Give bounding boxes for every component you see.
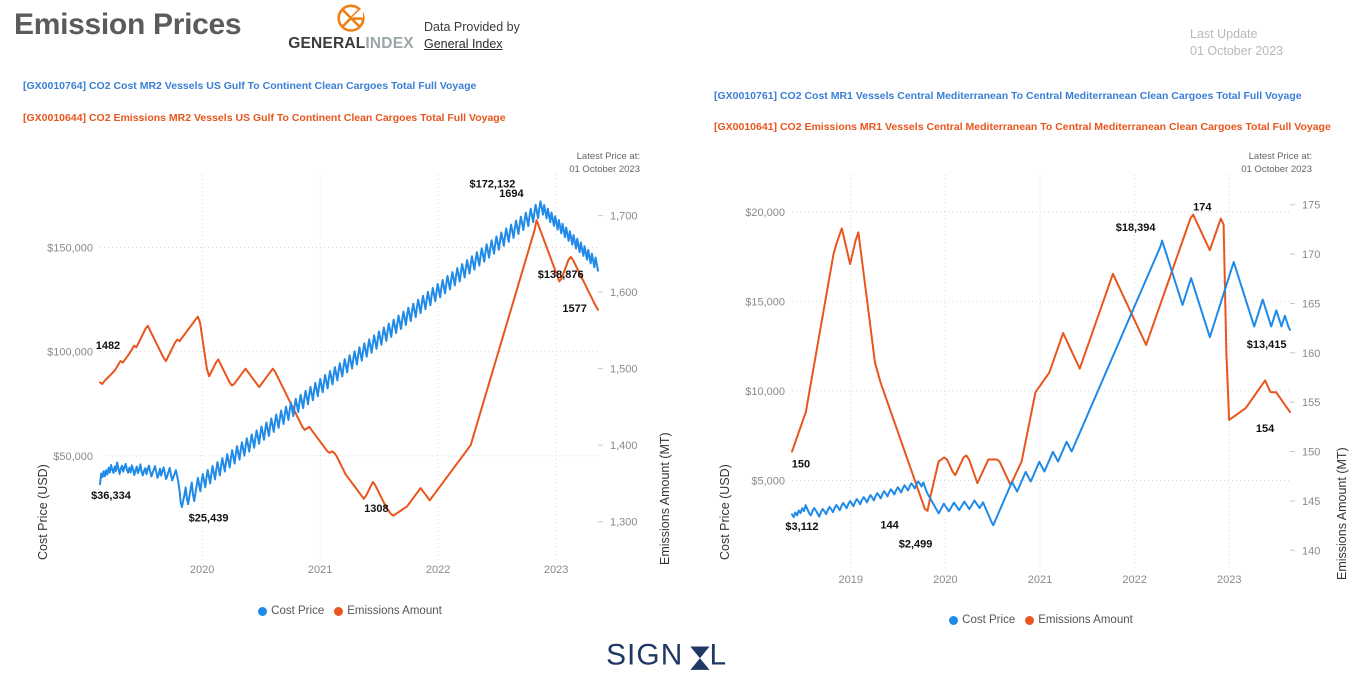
data-point-label: $18,394 [1116,222,1157,234]
series-title-left-emissions[interactable]: [GX0010644] CO2 Emissions MR2 Vessels US… [23,112,506,124]
data-point-label: 1577 [562,303,586,315]
x-tick-label: 2023 [1217,574,1241,586]
wordmark-index: INDEX [365,35,413,52]
legend-label: Cost Price [271,605,324,617]
general-index-mark-icon [334,2,368,36]
data-point-label: 1694 [499,188,524,200]
y2-tick-label: 1,300 [610,517,638,529]
data-point-label: $138,876 [538,269,584,281]
y-tick-label: $5,000 [751,475,785,487]
y2-tick-label: 1,700 [610,211,638,223]
plot-area-left: $50,000$100,000$150,0001,3001,4001,5001,… [0,140,684,640]
y2-tick-label: 160 [1302,348,1320,360]
y-tick-label: $50,000 [53,451,93,463]
data-point-label: 1308 [364,503,388,515]
data-point-label: 144 [880,520,899,532]
x-tick-label: 2023 [544,564,568,576]
x-tick-label: 2019 [839,574,863,586]
chart-panel-left: Latest Price at: 01 October 2023 Cost Pr… [0,140,684,640]
legend-item-emissions-left[interactable]: Emissions Amount [334,605,442,617]
data-point-label: $3,112 [785,521,818,533]
chart-panel-right: Latest Price at: 01 October 2023 Cost Pr… [684,140,1369,640]
legend-dot-icon [949,616,958,625]
data-point-label: $25,439 [189,513,229,525]
last-update-block: Last Update 01 October 2023 [1190,26,1283,60]
legend-dot-icon [334,607,343,616]
series-title-left-cost[interactable]: [GX0010764] CO2 Cost MR2 Vessels US Gulf… [23,80,476,92]
x-tick-label: 2020 [933,574,957,586]
data-point-label: 154 [1256,423,1275,435]
y-tick-label: $10,000 [745,386,785,398]
legend-label: Emissions Amount [347,605,442,617]
x-tick-label: 2020 [190,564,214,576]
svg-text:SIGN: SIGN [606,639,683,672]
data-point-label: 150 [792,458,810,470]
series-title-right-emissions[interactable]: [GX0010641] CO2 Emissions MR1 Vessels Ce… [714,121,1331,133]
y2-tick-label: 145 [1302,496,1320,508]
data-point-label: 174 [1193,202,1212,214]
x-tick-label: 2021 [308,564,332,576]
legend-label: Cost Price [962,614,1015,626]
legend-item-cost-price-left[interactable]: Cost Price [258,605,324,617]
data-provided-label: Data Provided by [424,19,520,35]
legend-dot-icon [258,607,267,616]
plot-area-right: $5,000$10,000$15,000$20,0001401451501551… [684,140,1369,640]
legend-dot-icon [1025,616,1034,625]
y2-tick-label: 1,400 [610,440,638,452]
y2-tick-label: 155 [1302,397,1320,409]
general-index-link[interactable]: General Index [424,36,503,53]
data-point-label: 1482 [96,340,120,352]
y-tick-label: $15,000 [745,296,785,308]
signal-logo: SIGN L [0,633,1369,682]
legend-item-emissions-right[interactable]: Emissions Amount [1025,614,1133,626]
x-tick-label: 2021 [1028,574,1052,586]
y2-tick-label: 170 [1302,249,1320,261]
y-tick-label: $150,000 [47,243,93,255]
wordmark-general: GENERAL [288,35,365,52]
data-point-label: $2,499 [899,538,933,550]
y2-tick-label: 1,500 [610,364,638,376]
legend-right: Cost Price Emissions Amount [841,614,1241,626]
y-tick-label: $100,000 [47,347,93,359]
legend-left: Cost Price Emissions Amount [150,605,550,617]
y2-tick-label: 175 [1302,200,1320,212]
last-update-date: 01 October 2023 [1190,43,1283,60]
y2-tick-label: 165 [1302,298,1320,310]
data-point-label: $36,334 [91,490,132,502]
data-point-label: $13,415 [1247,339,1287,351]
page-title: Emission Prices [14,8,241,42]
general-index-logo: GENERALINDEX [281,2,421,53]
series-title-right-cost[interactable]: [GX0010761] CO2 Cost MR1 Vessels Central… [714,90,1302,102]
svg-text:L: L [709,639,727,672]
y-tick-label: $20,000 [745,207,785,219]
y2-tick-label: 140 [1302,545,1320,557]
last-update-label: Last Update [1190,26,1283,43]
legend-item-cost-price-right[interactable]: Cost Price [949,614,1015,626]
y2-tick-label: 150 [1302,447,1320,459]
legend-label: Emissions Amount [1038,614,1133,626]
y2-tick-label: 1,600 [610,287,638,299]
data-provided-block: Data Provided by General Index [424,19,520,53]
x-tick-label: 2022 [1122,574,1146,586]
x-tick-label: 2022 [426,564,450,576]
general-index-wordmark: GENERALINDEX [281,35,421,53]
